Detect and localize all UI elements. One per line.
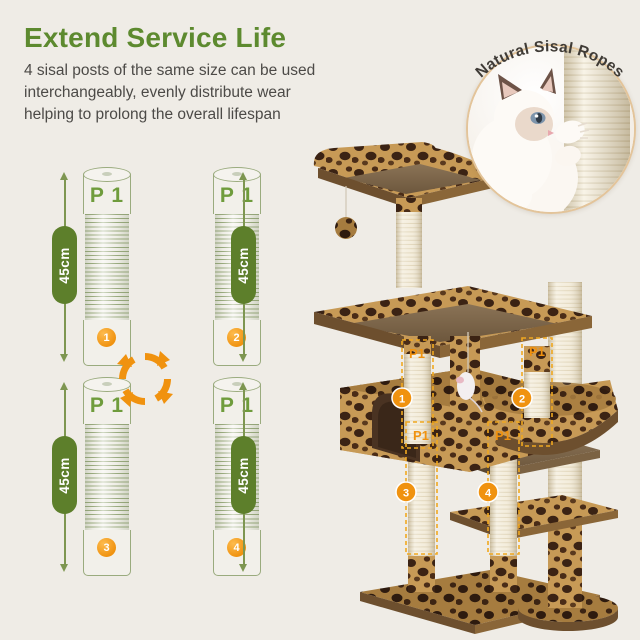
callout-number-2: 2 — [519, 394, 525, 406]
sisal-coil-texture — [85, 424, 129, 530]
length-value: 45cm — [57, 457, 72, 494]
length-value: 45cm — [236, 457, 251, 494]
length-badge: 45cm — [231, 436, 256, 514]
hanging-pompom-ball — [335, 186, 357, 239]
coil-edge-mask — [129, 424, 132, 530]
callout-number-1: 1 — [399, 394, 405, 406]
sisal-rope-inset-photo — [466, 44, 636, 214]
coil-edge-mask — [259, 424, 262, 530]
length-badge: 45cm — [231, 226, 256, 304]
dimension-arrow-1: 45cm — [58, 172, 72, 362]
arrowhead-down-icon — [239, 564, 247, 572]
dimension-arrow-4: 45cm — [237, 382, 251, 572]
arrowhead-down-icon — [239, 354, 247, 362]
post-number-badge: 1 — [97, 328, 116, 347]
top-perch-post — [396, 198, 422, 288]
callout-number-3: 3 — [403, 488, 409, 500]
lower-shelf — [450, 495, 618, 540]
length-badge: 45cm — [52, 226, 77, 304]
coil-edge-mask — [212, 424, 215, 530]
dimension-arrow-2: 45cm — [237, 172, 251, 362]
length-badge: 45cm — [52, 436, 77, 514]
callout-number-4: 4 — [485, 488, 492, 500]
sisal-coil-texture — [85, 214, 129, 320]
coil-edge-mask — [259, 214, 262, 320]
screw-hole-icon — [102, 382, 112, 386]
arrowhead-down-icon — [60, 354, 68, 362]
cat-tree-illustration: P1 1 P1 2 P1 3 P1 — [300, 140, 640, 640]
coil-edge-mask — [129, 214, 132, 320]
post-part-label: P 1 — [83, 184, 131, 208]
dimension-arrow-3: 45cm — [58, 382, 72, 572]
arrowhead-down-icon — [60, 564, 68, 572]
post-number-badge: 3 — [97, 538, 116, 557]
sisal-post-diagram-grid: P 1 1 P 1 2 P 1 3 — [0, 0, 310, 640]
callout-part-label-3: P1 — [413, 428, 429, 443]
infographic-canvas: Extend Service Life 4 sisal posts of the… — [0, 0, 640, 640]
callout-part-label-2: P1 — [529, 344, 545, 359]
length-value: 45cm — [236, 247, 251, 284]
coil-edge-mask — [212, 214, 215, 320]
length-value: 45cm — [57, 247, 72, 284]
callout-part-label-4: P1 — [495, 428, 511, 443]
callout-part-label-1: P1 — [409, 346, 425, 361]
circular-rotation-arrows-icon — [112, 346, 178, 412]
coil-edge-mask — [82, 424, 85, 530]
screw-hole-icon — [102, 172, 112, 176]
coil-edge-mask — [82, 214, 85, 320]
